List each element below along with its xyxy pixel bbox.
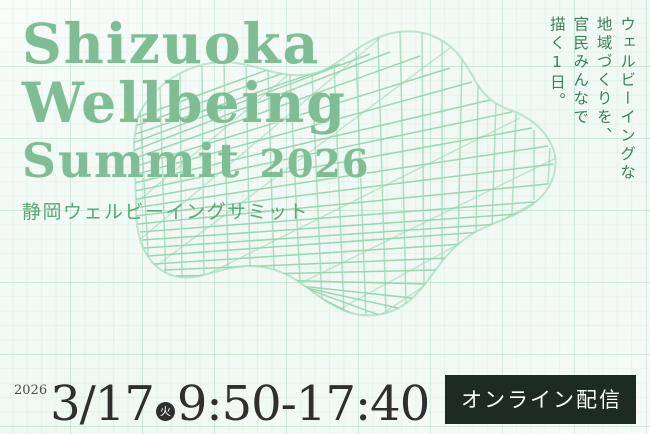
title-line-1: Shizuoka (22, 16, 402, 71)
online-streaming-badge: オンライン配信 (445, 375, 636, 424)
tagline-column-3: 官民みんなで (570, 16, 589, 316)
poster-canvas: Shizuoka Wellbeing Summit 2026 静岡ウェルビーイン… (0, 0, 650, 434)
tagline-vertical: ウェルビーイングな 地域づくりを、 官民みんなで 描く1日。 (547, 16, 637, 316)
tagline-column-1: ウェルビーイングな (617, 16, 636, 316)
title-line-2: Wellbeing (22, 75, 402, 130)
title-summit-word: Summit (22, 134, 241, 189)
schedule-year: 2026 (14, 383, 47, 398)
bottom-bar: 2026 3/17 火 9:50-17:40 オンライン配信 (0, 362, 650, 434)
title-block: Shizuoka Wellbeing Summit 2026 静岡ウェルビーイン… (22, 16, 402, 224)
tagline-column-2: 地域づくりを、 (593, 16, 612, 316)
title-year: 2026 (260, 141, 370, 186)
schedule-block: 2026 3/17 火 9:50-17:40 (14, 380, 429, 428)
title-line-3: Summit 2026 (22, 138, 402, 185)
schedule-date: 3/17 (50, 380, 154, 428)
tagline-column-4: 描く1日。 (547, 16, 566, 316)
schedule-day-of-week-badge: 火 (156, 402, 175, 421)
schedule-time: 9:50-17:40 (177, 380, 429, 428)
schedule-datetime: 3/17 火 9:50-17:40 (50, 380, 429, 428)
subtitle-japanese: 静岡ウェルビーイングサミット (22, 197, 402, 224)
